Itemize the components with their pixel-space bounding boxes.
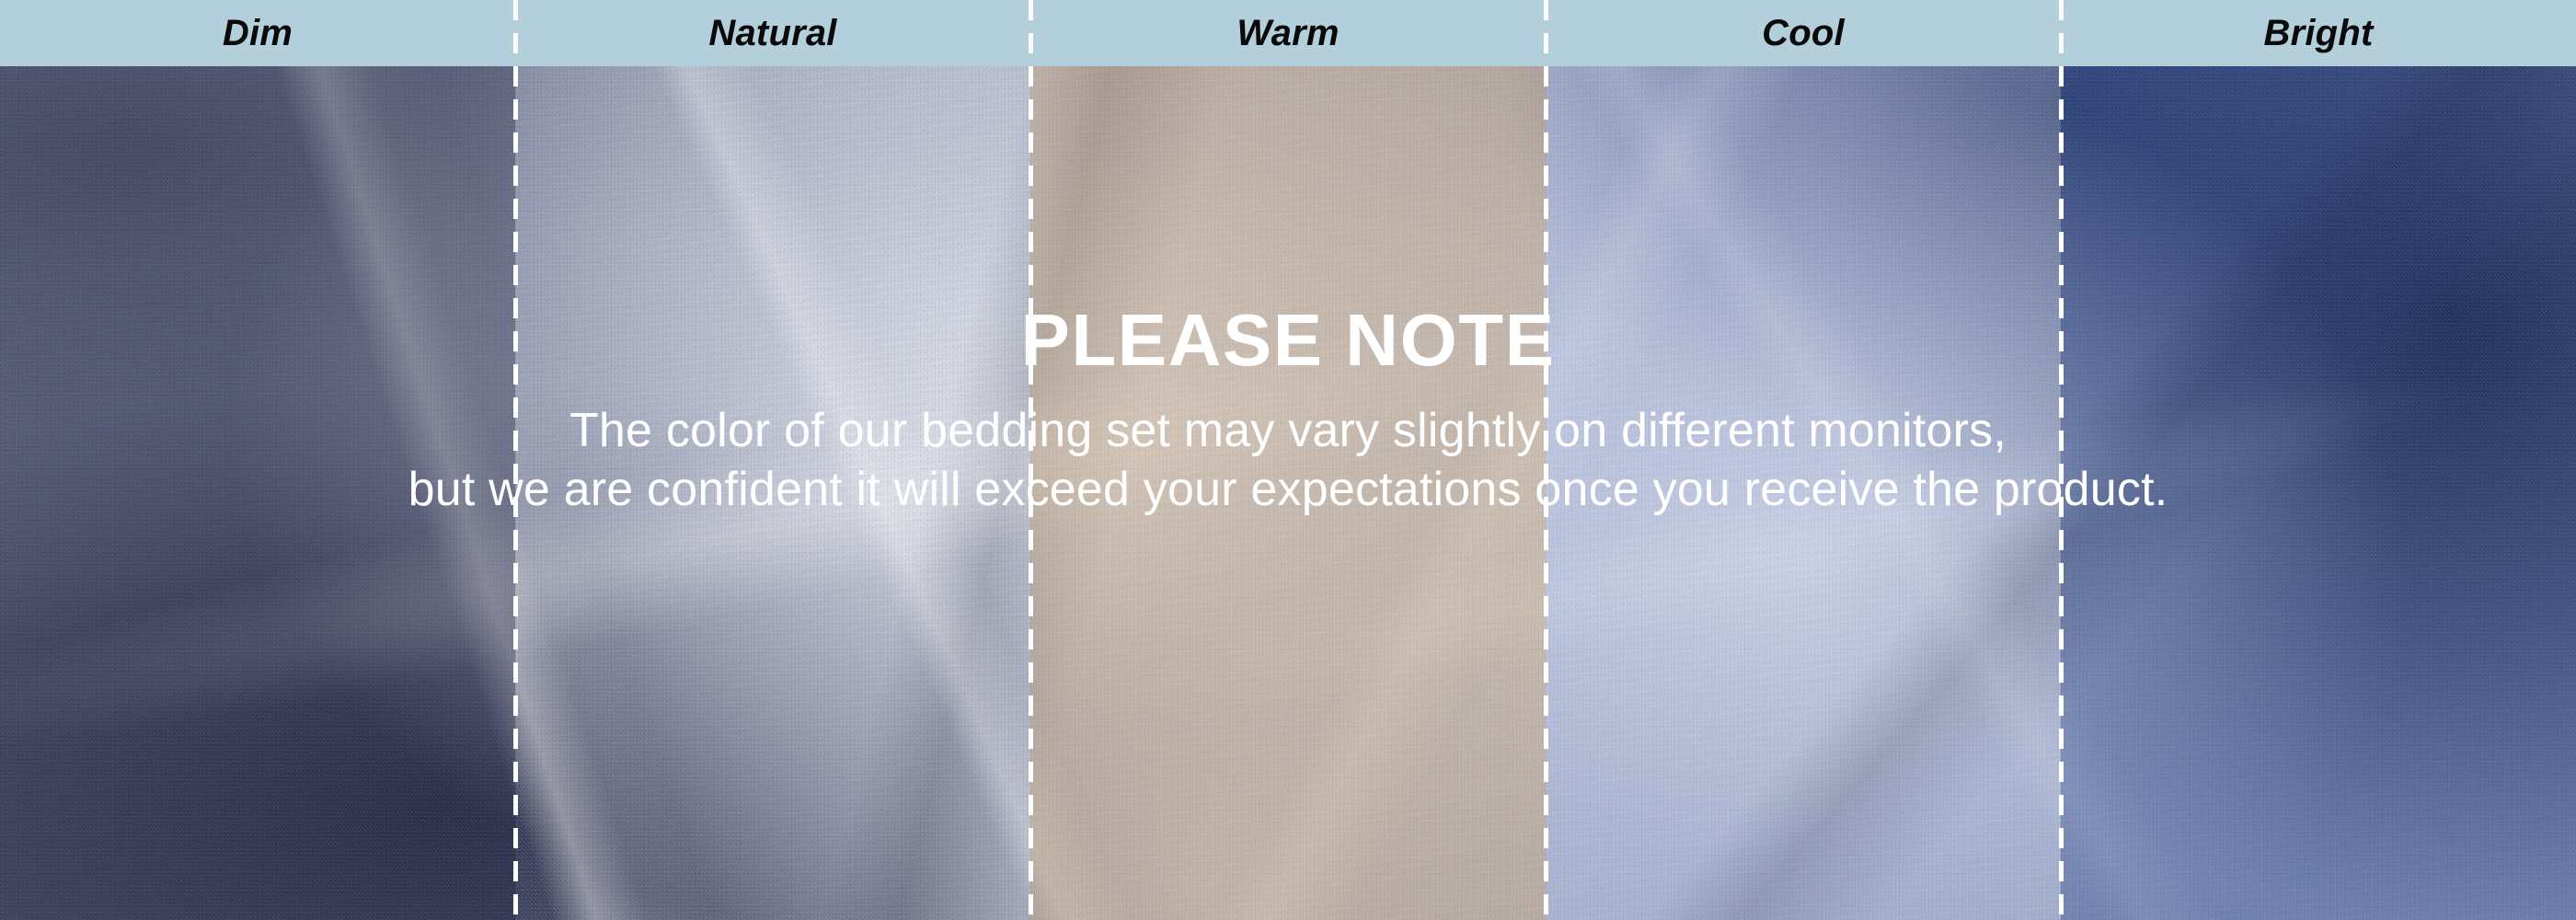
panel-warm [1030, 0, 1546, 920]
divider-dim-natural [513, 0, 518, 920]
lighting-label-dim: Dim [223, 15, 293, 52]
lighting-label-warm: Warm [1236, 15, 1339, 52]
panel-cool [1546, 0, 2061, 920]
panel-cool-tint [1546, 0, 2061, 920]
panel-dim [0, 0, 515, 920]
header-cell-warm: Warm [1030, 0, 1546, 66]
lighting-label-cool: Cool [1762, 15, 1845, 52]
header-cell-cool: Cool [1546, 0, 2061, 66]
panel-bright [2061, 0, 2576, 920]
color-temperature-panels [0, 0, 2576, 920]
header-cell-dim: Dim [0, 0, 515, 66]
lighting-label-bar: Dim Natural Warm Cool Bright [0, 0, 2576, 66]
lighting-label-natural: Natural [708, 15, 836, 52]
header-cell-bright: Bright [2061, 0, 2576, 66]
panel-bright-tint [2061, 0, 2576, 920]
panel-dim-tint [0, 0, 515, 920]
panel-natural [515, 0, 1030, 920]
divider-warm-cool [1544, 0, 1548, 920]
lighting-label-bright: Bright [2264, 15, 2374, 52]
panel-warm-tint [1030, 0, 1546, 920]
divider-cool-bright [2059, 0, 2064, 920]
header-cell-natural: Natural [515, 0, 1030, 66]
bedding-color-comparison-banner: Dim Natural Warm Cool Bright PLEASE NOTE… [0, 0, 2576, 920]
divider-natural-warm [1029, 0, 1033, 920]
panel-natural-tint [515, 0, 1030, 920]
